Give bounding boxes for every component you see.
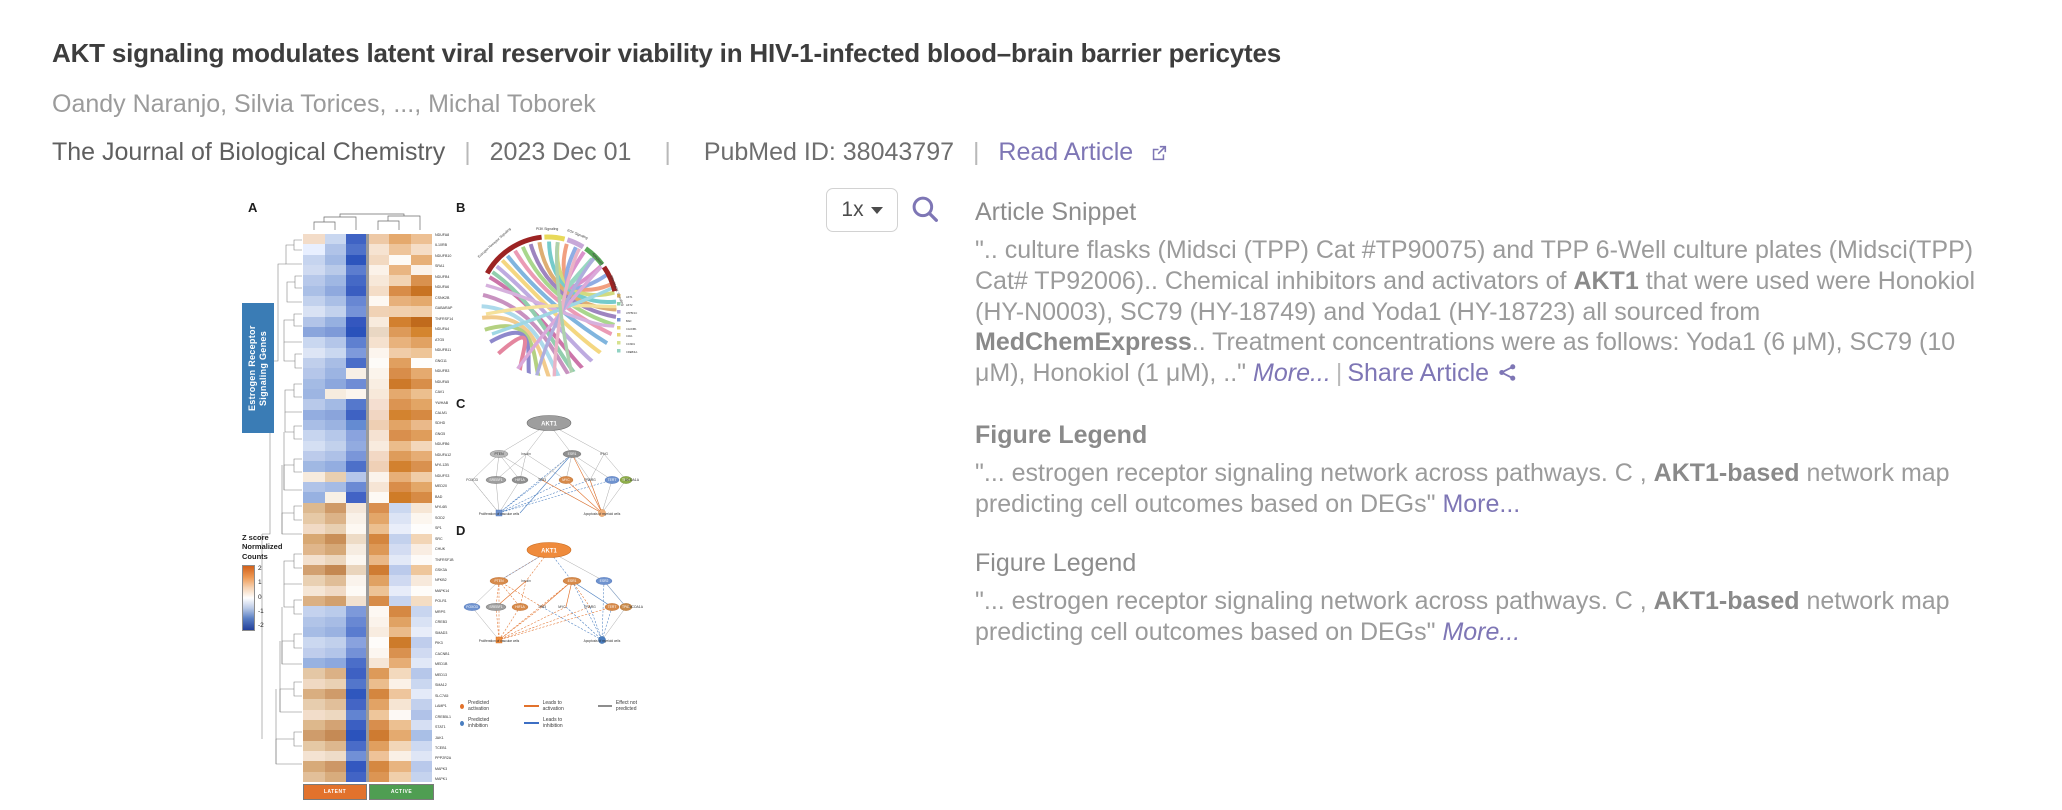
legend-more-link[interactable]: More... xyxy=(1442,490,1520,518)
svg-text:BAD: BAD xyxy=(626,319,631,323)
svg-text:CAV1: CAV1 xyxy=(626,334,633,338)
heatmap-column xyxy=(325,234,347,782)
zoom-level-select[interactable]: 1x xyxy=(826,188,898,232)
colorbar-gradient xyxy=(242,565,255,631)
svg-text:ESR1: ESR1 xyxy=(568,579,577,583)
legend-item: Leads to activation xyxy=(524,700,575,712)
article-metadata: The Journal of Biological Chemistry | 20… xyxy=(52,138,1168,169)
snippet-vendor: MedChemExpress xyxy=(975,328,1192,356)
legend-item: Predicted activation xyxy=(460,700,502,712)
author-list: Oandy Naranjo, Silvia Torices, ..., Mich… xyxy=(52,90,596,119)
share-icon[interactable] xyxy=(1497,360,1518,391)
publication-date: 2023 Dec 01 xyxy=(490,138,632,166)
column-dendrogram xyxy=(303,212,432,230)
svg-text:Insulin: Insulin xyxy=(521,452,531,456)
network-panel-c: AKT1 PTEN Insulin ESR1 IFNG FOXO3 SREBF1… xyxy=(454,408,644,528)
svg-text:CREB3L1: CREB3L1 xyxy=(626,350,638,354)
legend-gene-akt1-based: AKT1-based xyxy=(1654,459,1800,487)
colorbar-ticks: 2 1 0 -1 -2 xyxy=(258,565,264,629)
svg-text:SREBF1: SREBF1 xyxy=(489,605,502,609)
svg-text:TERT: TERT xyxy=(608,605,617,609)
meta-separator-1: | xyxy=(452,138,483,166)
zoom-level-label: 1x xyxy=(841,198,863,222)
article-result-page: AKT signaling modulates latent viral res… xyxy=(0,0,2062,810)
network-legend: Predicted activation Predicted inhibitio… xyxy=(460,700,650,734)
svg-text:NCOA1A: NCOA1A xyxy=(625,478,640,482)
svg-text:Insulin: Insulin xyxy=(521,579,531,583)
legend-item: Predicted inhibition xyxy=(460,717,502,729)
read-article-link[interactable]: Read Article xyxy=(998,138,1133,166)
heatmap-gene-label: MAPK1 xyxy=(435,778,493,782)
heatmap-column xyxy=(389,234,411,782)
heatmap-column xyxy=(303,234,325,782)
legend-gene-akt1-based: AKT1-based xyxy=(1654,587,1800,615)
svg-text:Apoptosis of myeloid cells: Apoptosis of myeloid cells xyxy=(584,512,621,516)
svg-text:Proliferation of vascular cell: Proliferation of vascular cells xyxy=(479,512,520,516)
svg-text:TP53: TP53 xyxy=(538,478,546,482)
group-bar-latent: LATENT xyxy=(303,784,367,800)
svg-text:PPARG: PPARG xyxy=(584,478,596,482)
meta-separator-3: | xyxy=(961,138,992,166)
chevron-down-icon xyxy=(871,207,883,214)
figure-legend-heading: Figure Legend xyxy=(975,549,1985,578)
svg-text:ATP5F1C: ATP5F1C xyxy=(626,311,637,315)
pubmed-id: PubMed ID: 38043797 xyxy=(704,138,954,166)
svg-text:PTEN: PTEN xyxy=(494,452,504,456)
svg-text:HIF1A: HIF1A xyxy=(515,478,525,482)
snippet-body: ".. culture flasks (Midsci (TPP) Cat #TP… xyxy=(975,235,1985,391)
figure-legend-body: "... estrogen receptor signaling network… xyxy=(975,458,1985,520)
snippet-heading: Article Snippet xyxy=(975,198,1985,227)
svg-text:Proliferation of vascular cell: Proliferation of vascular cells xyxy=(479,639,520,643)
svg-text:AKT2: AKT2 xyxy=(626,303,633,307)
svg-text:FOXO3: FOXO3 xyxy=(466,605,478,609)
svg-text:PI3K Signaling: PI3K Signaling xyxy=(536,227,558,231)
snippet-divider: | xyxy=(1331,359,1348,387)
svg-text:NCOA1A: NCOA1A xyxy=(629,605,644,609)
article-text-column: Article Snippet ".. culture flasks (Mids… xyxy=(975,198,1985,648)
circos-chord-diagram: Estrogen Receptor Signaling PI3K Signali… xyxy=(454,214,644,404)
svg-text:PTEN: PTEN xyxy=(494,579,504,583)
figure-legend-section-2: Figure Legend "... estrogen receptor sig… xyxy=(975,549,1985,648)
heatmap-gene-label: JAK1 xyxy=(435,737,493,741)
heatmap-gene-label: TCEB1 xyxy=(435,747,493,751)
article-figure[interactable]: A xyxy=(248,200,748,795)
svg-text:FOXO3: FOXO3 xyxy=(466,478,478,482)
colorbar-title: Z scoreNormalizedCounts xyxy=(242,533,306,561)
svg-text:HIF1A: HIF1A xyxy=(515,605,525,609)
heatmap-gene-label: SLC7A5 xyxy=(435,695,493,699)
network-panel-d: AKT1 PTEN Insulin ESR1 ESR2 FOXO3 SREBF1… xyxy=(454,535,644,690)
svg-text:PPARG: PPARG xyxy=(584,605,596,609)
journal-name: The Journal of Biological Chemistry xyxy=(52,138,445,166)
external-link-icon[interactable] xyxy=(1149,140,1168,169)
svg-text:ESR2: ESR2 xyxy=(600,579,609,583)
heatmap-column xyxy=(368,234,390,782)
svg-text:TERT: TERT xyxy=(608,478,617,482)
svg-text:IFNG: IFNG xyxy=(600,452,608,456)
svg-text:CCND1: CCND1 xyxy=(626,342,635,346)
svg-text:Apoptosis of myeloid cells: Apoptosis of myeloid cells xyxy=(584,639,621,643)
heatmap-column xyxy=(411,234,433,782)
snippet-more-link[interactable]: More... xyxy=(1253,359,1331,387)
svg-text:TP53: TP53 xyxy=(538,605,546,609)
row-annotation-label: Estrogen Receptor Signaling Genes xyxy=(242,303,274,433)
heatmap-gene-label: PPP2R2A xyxy=(435,757,493,761)
svg-text:CACNB1: CACNB1 xyxy=(626,327,637,331)
snippet-gene-akt1: AKT1 xyxy=(1573,267,1638,295)
heatmap-group-divider xyxy=(366,234,369,782)
meta-separator-2: | xyxy=(638,138,697,166)
article-snippet-section: Article Snippet ".. culture flasks (Mids… xyxy=(975,198,1985,391)
panel-label-b: B xyxy=(456,200,465,215)
legend-item: Leads to inhibition xyxy=(524,717,575,729)
heatmap-gene-label: MAPK3 xyxy=(435,768,493,772)
heatmap-colorbar-legend: Z scoreNormalizedCounts 2 1 0 -1 -2 xyxy=(242,533,306,631)
svg-text:MYC: MYC xyxy=(558,605,566,609)
legend-text-1: "... estrogen receptor signaling network… xyxy=(975,587,1654,615)
svg-text:SREBF1: SREBF1 xyxy=(489,478,502,482)
svg-text:AKT1: AKT1 xyxy=(541,421,557,427)
svg-text:ESR1: ESR1 xyxy=(568,452,577,456)
figure-legend-body: "... estrogen receptor signaling network… xyxy=(975,586,1985,648)
figure-legend-section-1: Figure Legend "... estrogen receptor sig… xyxy=(975,421,1985,520)
legend-item: Effect not predicted xyxy=(598,700,650,712)
heatmap-column xyxy=(346,234,368,782)
group-bar-active: ACTIVE xyxy=(369,784,434,800)
share-article-link[interactable]: Share Article xyxy=(1347,359,1489,387)
legend-more-link[interactable]: More... xyxy=(1442,618,1520,646)
page-title: AKT signaling modulates latent viral res… xyxy=(52,38,1552,69)
svg-text:AKT1: AKT1 xyxy=(626,295,633,299)
svg-text:AKT1: AKT1 xyxy=(541,548,557,554)
search-icon[interactable] xyxy=(908,192,942,231)
legend-text-1: "... estrogen receptor signaling network… xyxy=(975,459,1654,487)
figure-legend-heading: Figure Legend xyxy=(975,421,1985,450)
svg-text:MYC: MYC xyxy=(562,478,570,482)
